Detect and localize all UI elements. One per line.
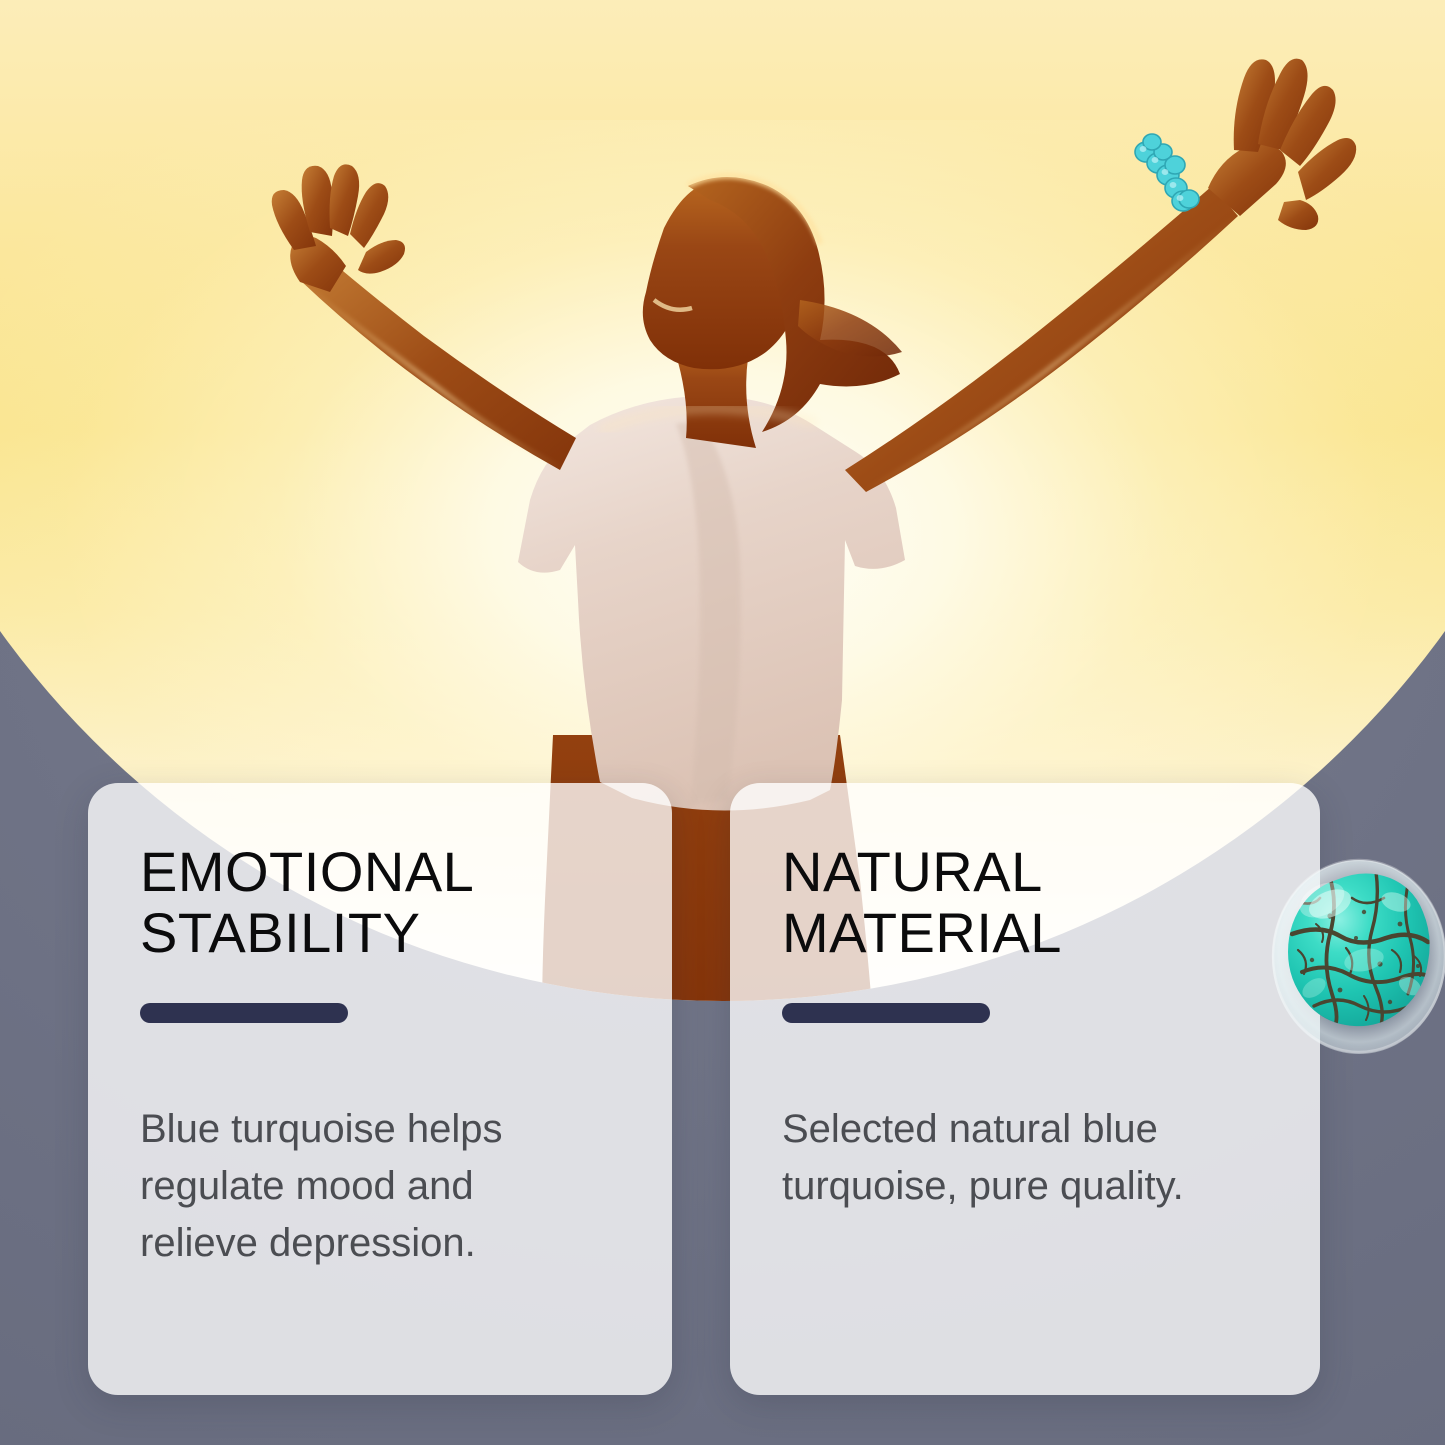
card-description: Blue turquoise helps regulate mood and r… <box>140 1101 626 1271</box>
feature-card-natural-material[interactable]: NATURAL MATERIAL Selected natural blue t… <box>730 783 1320 1395</box>
card-title: NATURAL MATERIAL <box>782 841 1274 963</box>
accent-bar <box>782 1003 990 1023</box>
feature-cards: EMOTIONAL STABILITY Blue turquoise helps… <box>0 0 1445 1445</box>
card-description: Selected natural blue turquoise, pure qu… <box>782 1101 1274 1215</box>
product-feature-poster: EMOTIONAL STABILITY Blue turquoise helps… <box>0 0 1445 1445</box>
turquoise-stone-badge <box>1268 838 1445 1074</box>
feature-card-emotional-stability[interactable]: EMOTIONAL STABILITY Blue turquoise helps… <box>88 783 672 1395</box>
accent-bar <box>140 1003 348 1023</box>
blue-turquoise-nugget-icon <box>1268 838 1445 1074</box>
card-title: EMOTIONAL STABILITY <box>140 841 626 963</box>
